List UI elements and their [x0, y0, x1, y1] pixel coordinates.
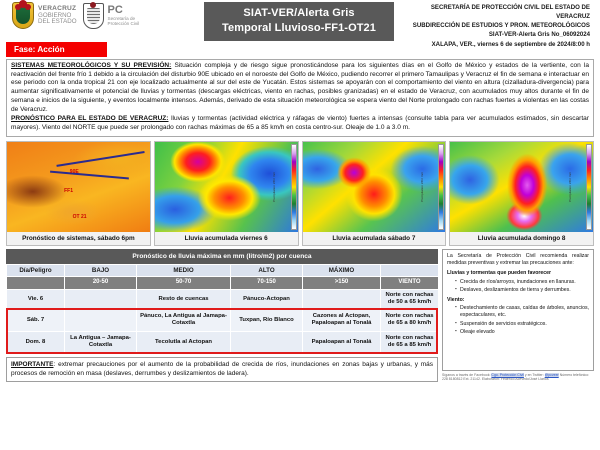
recommendations-column: La Secretaría de Protección Civil recomi… — [442, 249, 594, 383]
dept-line-1: SECRETARÍA DE PROTECCIÓN CIVIL DEL ESTAD… — [400, 3, 590, 21]
alert-document: VERACRUZ GOBIERNO DEL ESTADO PC Secretar… — [0, 0, 600, 450]
title-line-1: SIAT-VER/Alerta Gris — [206, 6, 392, 21]
cell-medio: Tecolutla al Actopan — [137, 331, 231, 353]
th-day-peligro: Día/Peligro — [7, 264, 65, 277]
th2-medio-range: 50-70 — [137, 277, 231, 290]
th-bajo: BAJO — [65, 264, 137, 277]
th2-alto-range: 70-150 — [231, 277, 303, 290]
cell-alto: Pánuco-Actopan — [231, 289, 303, 309]
proteccion-civil-logo: PC Secretaría de Protección Civil — [83, 3, 140, 29]
cell-maximo — [303, 289, 381, 309]
list-item: Deslaves, deslizamientos de tierra y der… — [455, 287, 589, 294]
paragraph-systems: SISTEMAS METEOROLÓGICOS Y SU PREVISIÓN: … — [11, 62, 589, 114]
table-row: Sáb. 7 Pánuco, La Antigua al Jamapa-Cota… — [7, 309, 439, 331]
colorbar-icon-3 — [586, 144, 592, 230]
paragraph-systems-label: SISTEMAS METEOROLÓGICOS Y SU PREVISIÓN: — [11, 62, 171, 69]
recommendations-box: La Secretaría de Protección Civil recomi… — [442, 249, 594, 371]
cell-maximo: Papaloapan al Tonalá — [303, 331, 381, 353]
cold-front-line-icon — [56, 151, 144, 166]
map-panels: 90E FF1 OT 21 Pronóstico de sistemas, sá… — [0, 137, 600, 249]
paragraph-forecast-label: PRONÓSTICO PARA EL ESTADO DE VERACRUZ: — [11, 115, 169, 122]
document-title: SIAT-VER/Alerta Gris Temporal Lluvioso-F… — [204, 2, 394, 41]
th-alto: ALTO — [231, 264, 303, 277]
panel-caption-friday: Lluvia acumulada viernes 6 — [155, 232, 298, 245]
dept-line-2: SUBDIRECCIÓN DE ESTUDIOS Y PRON. METEORO… — [400, 21, 590, 30]
map-panel-friday[interactable]: Precipitation 24hr mm Lluvia acumulada v… — [154, 141, 299, 246]
panel-caption-sunday: Lluvia acumulada domingo 8 — [450, 232, 593, 245]
pc-abbr: PC — [108, 5, 140, 16]
important-note: IMPORTANTE: extremar precauciones por el… — [6, 357, 438, 383]
important-label: IMPORTANTE — [11, 361, 54, 368]
cell-viento: Norte con rachas de 65 a 80 km/h — [381, 309, 439, 331]
table-header-row-2: 20-50 50-70 70-150 >150 VIENTO — [7, 277, 439, 290]
th2-viento: VIENTO — [381, 277, 439, 290]
label-ff1: FF1 — [64, 188, 73, 194]
footer-pre: Síganos a través de Facebook: — [442, 373, 491, 377]
cell-viento: Norte con rachas de 50 a 65 km/h — [381, 289, 439, 309]
forecast-text-box: SISTEMAS METEOROLÓGICOS Y SU PREVISIÓN: … — [6, 59, 594, 137]
th-blank — [381, 264, 439, 277]
map-panel-saturday[interactable]: Precipitation 24hr mm Lluvia acumulada s… — [302, 141, 447, 246]
cell-medio: Pánuco, La Antigua al Jamapa-Cotaxtla — [137, 309, 231, 331]
cell-medio: Resto de cuencas — [137, 289, 231, 309]
reco-intro: La Secretaría de Protección Civil recomi… — [447, 253, 589, 268]
forecast-table-column: Pronóstico de lluvia máxima en mm (litro… — [6, 249, 438, 383]
th-medio: MEDIO — [137, 264, 231, 277]
synoptic-map-image: 90E FF1 OT 21 — [7, 142, 150, 232]
label-90e: 90E — [70, 169, 79, 175]
map-panel-synoptic[interactable]: 90E FF1 OT 21 Pronóstico de sistemas, sá… — [6, 141, 151, 246]
cell-day: Sáb. 7 — [7, 309, 65, 331]
th2-blank — [7, 277, 65, 290]
cell-day: Dom. 8 — [7, 331, 65, 353]
cell-bajo — [65, 289, 137, 309]
logo-group: VERACRUZ GOBIERNO DEL ESTADO PC Secretar… — [4, 2, 204, 29]
precip-map-sunday-image: Precipitation 24hr mm — [450, 142, 593, 232]
table-header-row-1: Día/Peligro BAJO MEDIO ALTO MÁXIMO — [7, 264, 439, 277]
cell-day: Vie. 6 — [7, 289, 65, 309]
dept-line-4: XALAPA, VER., viernes 6 de septiembre de… — [400, 40, 590, 49]
precip-map-saturday-image: Precipitation 24hr mm — [303, 142, 446, 232]
document-header: VERACRUZ GOBIERNO DEL ESTADO PC Secretar… — [0, 0, 600, 38]
reco-group1-list: Crecida de ríos/arroyos, inundaciones en… — [447, 279, 589, 295]
status-badge: Fase: Acción — [6, 42, 107, 57]
veracruz-logo-line3: DEL ESTADO — [38, 19, 77, 25]
title-line-2: Temporal Lluvioso-FF1-OT21 — [206, 21, 392, 36]
table-title: Pronóstico de lluvia máxima en mm (litro… — [6, 249, 438, 264]
cell-alto — [231, 331, 303, 353]
th-maximo: MÁXIMO — [303, 264, 381, 277]
list-item: Oleaje elevado — [455, 329, 589, 336]
table-row: Vie. 6 Resto de cuencas Pánuco-Actopan N… — [7, 289, 439, 309]
cell-alto: Tuxpan, Río Blanco — [231, 309, 303, 331]
cold-front-line-icon-2 — [50, 171, 128, 179]
reco-group1-title: Lluvias y tormentas que pueden favorecer — [447, 270, 589, 277]
cell-bajo: La Antigua – Jamapa-Cotaxtla — [65, 331, 137, 353]
cell-viento: Norte con rachas de 65 a 85 km/h — [381, 331, 439, 353]
colorbar-label-sunday: Precipitation 24hr mm — [568, 172, 572, 202]
twitter-link[interactable]: @pcveer — [545, 373, 559, 377]
table-row: Dom. 8 La Antigua – Jamapa-Cotaxtla Teco… — [7, 331, 439, 353]
table-wrap: Día/Peligro BAJO MEDIO ALTO MÁXIMO 20-50… — [6, 264, 438, 354]
contact-footer: Síganos a través de Facebook: Cgo. Prote… — [442, 373, 594, 382]
proteccion-civil-crest-icon — [83, 3, 104, 29]
map-panel-sunday[interactable]: Precipitation 24hr mm Lluvia acumulada d… — [449, 141, 594, 246]
panel-caption-saturday: Lluvia acumulada sábado 7 — [303, 232, 446, 245]
facebook-link[interactable]: Cgo. Protección Civil — [491, 373, 523, 377]
list-item: Crecida de ríos/arroyos, inundaciones en… — [455, 279, 589, 286]
label-ot21: OT 21 — [73, 214, 87, 220]
footer-mid: y en Twitter: — [524, 373, 545, 377]
reco-group2-title: Viento: — [447, 297, 589, 304]
important-text: : extremar precauciones por el aumento d… — [11, 361, 433, 377]
forecast-table: Día/Peligro BAJO MEDIO ALTO MÁXIMO 20-50… — [6, 264, 439, 354]
veracruz-crest-icon — [12, 2, 34, 29]
th2-maximo-range: >150 — [303, 277, 381, 290]
th2-bajo-range: 20-50 — [65, 277, 137, 290]
panel-caption-synoptic: Pronóstico de sistemas, sábado 6pm — [7, 232, 150, 245]
colorbar-label-saturday: Precipitation 24hr mm — [420, 172, 424, 202]
dept-line-3: SIAT-VER-Alerta Gris No_06092024 — [400, 30, 590, 39]
paragraph-forecast: PRONÓSTICO PARA EL ESTADO DE VERACRUZ: l… — [11, 115, 589, 132]
precip-map-friday-image: Precipitation 24hr mm — [155, 142, 298, 232]
list-item: Suspensión de servicios estratégicos. — [455, 321, 589, 328]
cell-maximo: Cazones al Actopan, Papaloapan al Tonalá — [303, 309, 381, 331]
cell-bajo — [65, 309, 137, 331]
colorbar-icon-2 — [438, 144, 444, 230]
colorbar-icon — [291, 144, 297, 230]
department-info: SECRETARÍA DE PROTECCIÓN CIVIL DEL ESTAD… — [394, 2, 596, 49]
list-item: Destechamiento de casas, caídas de árbol… — [455, 305, 589, 320]
bottom-area: Pronóstico de lluvia máxima en mm (litro… — [0, 249, 600, 383]
veracruz-logo: VERACRUZ GOBIERNO DEL ESTADO — [12, 2, 77, 29]
paragraph-systems-text: Situación compleja y de riesgo sigue pro… — [11, 62, 589, 113]
reco-group2-list: Destechamiento de casas, caídas de árbol… — [447, 305, 589, 337]
colorbar-label-friday: Precipitation 24hr mm — [272, 172, 276, 202]
pc-line2: Protección Civil — [108, 21, 140, 26]
